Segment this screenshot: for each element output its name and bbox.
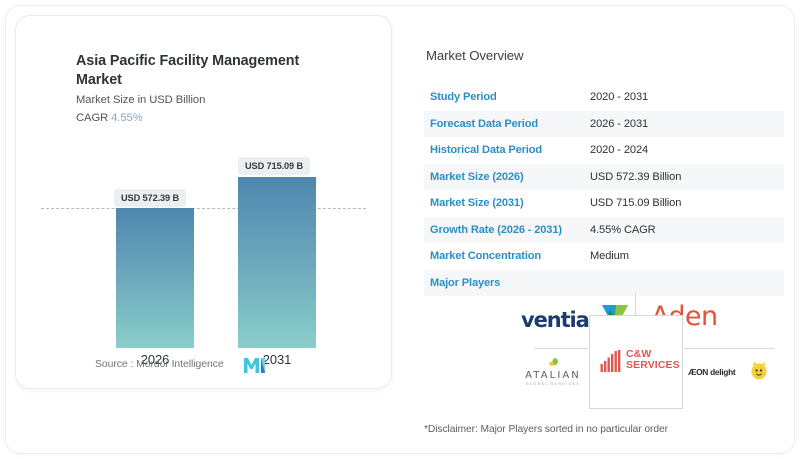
row-value: 4.55% CAGR — [590, 224, 656, 236]
table-row: Historical Data Period 2020 - 2024 — [424, 137, 784, 164]
row-value: 2020 - 2024 — [590, 144, 648, 156]
chart-panel: Asia Pacific Facility Management Market … — [16, 16, 391, 388]
row-key: Study Period — [430, 91, 590, 103]
row-key: Market Size (2031) — [430, 197, 590, 209]
row-key: Market Size (2026) — [430, 171, 590, 183]
bar-value-label-2026: USD 572.39 B — [114, 189, 186, 207]
cw-buildings-icon — [600, 350, 622, 372]
row-key: Forecast Data Period — [430, 118, 590, 130]
table-row: Forecast Data Period 2026 - 2031 — [424, 111, 784, 138]
market-overview-table: Study Period 2020 - 2031 Forecast Data P… — [424, 84, 784, 296]
row-value: USD 572.39 Billion — [590, 171, 681, 183]
row-value: 2020 - 2031 — [590, 91, 648, 103]
reference-dashed-line — [41, 208, 366, 209]
row-value: 2026 - 2031 — [590, 118, 648, 130]
row-key: Historical Data Period — [430, 144, 590, 156]
bar-value-label-2031: USD 715.09 B — [238, 157, 310, 175]
bar-chart-plot: USD 572.39 B USD 715.09 B 2026 2031 — [16, 16, 391, 388]
aeon-wordmark: ÆON delight — [688, 367, 735, 377]
row-key: Major Players — [430, 277, 590, 289]
mordor-intelligence-logo — [243, 355, 269, 375]
source-text: Source : Mordor Intelligence — [95, 359, 224, 370]
bar-2031 — [238, 177, 316, 348]
market-overview-title: Market Overview — [426, 48, 523, 63]
row-value: USD 715.09 Billion — [590, 197, 681, 209]
logo-cw-services: C&W SERVICES — [600, 347, 680, 379]
source-row: Source : Mordor Intelligence — [30, 358, 377, 376]
ventia-wordmark: ventia — [521, 308, 589, 332]
major-players-logo-grid: ventia Aden — [516, 289, 788, 409]
table-row: Study Period 2020 - 2031 — [424, 84, 784, 111]
table-row: Market Size (2026) USD 572.39 Billion — [424, 164, 784, 191]
market-overview-panel: Market Overview Study Period 2020 - 2031… — [410, 16, 785, 446]
aeon-mascot-icon — [748, 359, 770, 381]
row-value: Medium — [590, 250, 629, 262]
logo-atalian: ATALIAN GLOBAL SERVICES — [518, 355, 588, 393]
row-key: Market Concentration — [430, 250, 590, 262]
disclaimer-text: *Disclaimer: Major Players sorted in no … — [424, 424, 668, 435]
table-row: Market Size (2031) USD 715.09 Billion — [424, 190, 784, 217]
table-row: Market Concentration Medium — [424, 243, 784, 270]
row-key: Growth Rate (2026 - 2031) — [430, 224, 590, 236]
logo-aeon-delight: ÆON delight — [688, 359, 784, 389]
screenshot-root: Asia Pacific Facility Management Market … — [0, 0, 800, 459]
atalian-wordmark: ATALIAN — [518, 370, 588, 381]
atalian-leaf-icon — [548, 356, 560, 368]
table-row: Growth Rate (2026 - 2031) 4.55% CAGR — [424, 217, 784, 244]
atalian-tagline: GLOBAL SERVICES — [518, 382, 588, 386]
bar-2026 — [116, 208, 194, 348]
cw-line2: SERVICES — [626, 359, 680, 371]
